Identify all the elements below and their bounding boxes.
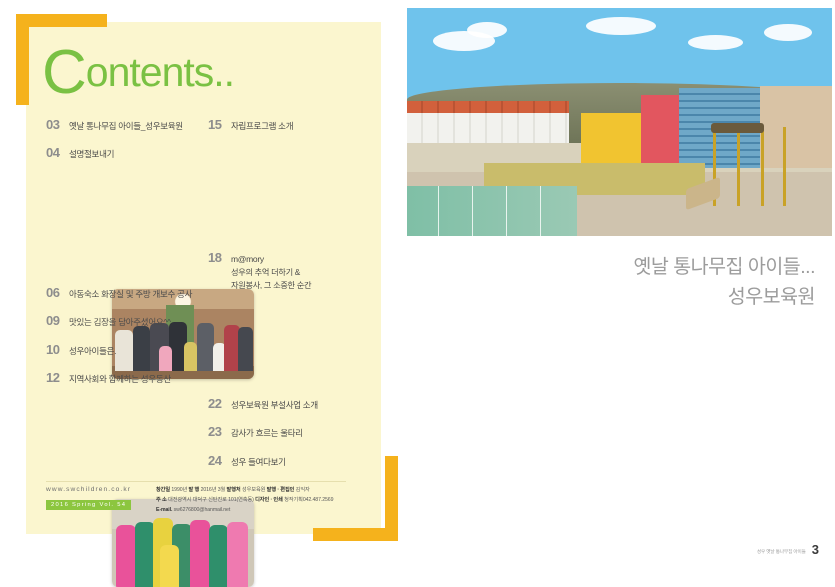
photo-detail <box>705 127 790 207</box>
email-label: E-mail. <box>156 507 172 513</box>
toc-label: 지역사회와 함께하는 성우동산 <box>69 373 171 385</box>
imprint-line-2: 주 소 대전광역시 대덕구 신탄진로 101(연축동) 디자인 · 인쇄 청작기… <box>156 496 396 506</box>
imprint-label: 디자인 · 인쇄 <box>255 497 283 503</box>
toc-number: 24 <box>208 453 227 468</box>
toc-column-right: 15 자립프로그램 소개 18 m@mory 성우의 추억 더하기 & 자원봉사… <box>208 117 373 145</box>
imprint-line-1: 창간일 1990년 발 행 2016년 3월 발행처 성우보육원 발행 · 편집… <box>156 486 396 496</box>
toc-label: 자립프로그램 소개 <box>231 120 293 132</box>
imprint-value: 김익자 <box>296 487 310 493</box>
imprint-value: 1990년 <box>171 487 187 493</box>
toc-entry-24[interactable]: 24 성우 들여다보기 <box>208 453 378 468</box>
toc-label: m@mory <box>231 253 264 265</box>
photo-detail <box>407 186 577 236</box>
imprint-details: 창간일 1990년 발 행 2016년 3월 발행처 성우보육원 발행 · 편집… <box>156 486 396 516</box>
toc-number: 22 <box>208 396 227 411</box>
footer-divider <box>46 481 346 482</box>
toc-entry-04[interactable]: 04 설명절보내기 <box>46 145 206 160</box>
volume-badge: 2016 Spring Vol. 54 <box>46 500 131 510</box>
page-number: 3 <box>812 542 819 557</box>
toc-entry-18-block[interactable]: 18 m@mory 성우의 추억 더하기 & 자원봉사, 그 소중한 순간 <box>208 250 378 292</box>
page-title: Contents.. <box>42 42 234 104</box>
imprint-label: 발행처 <box>227 487 241 493</box>
email-value[interactable]: sw6276800@hanmail.net <box>174 507 231 513</box>
toc-column-right-lower: 22 성우보육원 부설사업 소개 23 감사가 흐르는 울타리 24 성우 들여… <box>208 396 378 481</box>
toc-number: 23 <box>208 424 227 439</box>
toc-column-left: 03 옛날 통나무집 아이들_성우보육원 04 설명절보내기 <box>46 117 206 174</box>
toc-number: 04 <box>46 145 65 160</box>
imprint-label: 발 행 <box>189 487 200 493</box>
toc-column-left-lower: 06 아동숙소 화장실 및 주방 개보수 공사 09 맛있는 김장을 담아주셨어… <box>46 285 236 398</box>
toc-entry-03[interactable]: 03 옛날 통나무집 아이들_성우보육원 <box>46 117 206 132</box>
toc-number: 12 <box>46 370 65 385</box>
imprint-label: 발행 · 편집인 <box>267 487 295 493</box>
imprint-label: 창간일 <box>156 487 170 493</box>
toc-label: 감사가 흐르는 울타리 <box>231 427 303 439</box>
toc-entry-22[interactable]: 22 성우보육원 부설사업 소개 <box>208 396 378 411</box>
toc-number: 06 <box>46 285 65 300</box>
toc-entry-12[interactable]: 12 지역사회와 함께하는 성우동산 <box>46 370 236 385</box>
toc-number: 09 <box>46 313 65 328</box>
imprint-value: 성우보육원 <box>242 487 265 493</box>
imprint-value: 대전광역시 대덕구 신탄진로 101(연축동) <box>168 497 254 503</box>
right-page: 옛날 통나무집 아이들... 성우보육원 “ 사랑스러운 우리 아이들과 행복 … <box>400 0 835 571</box>
toc-label: 설명절보내기 <box>69 148 114 160</box>
toc-number: 18 <box>208 250 227 265</box>
imprint-value: 2016년 3월 <box>201 487 226 493</box>
article-title-line2: 성우보육원 <box>400 282 815 312</box>
page-footer-label: 성우 옛날 통나무집 아이들 <box>757 549 806 557</box>
photo-campus-aerial <box>407 8 832 236</box>
photo-detail <box>407 101 569 112</box>
article-title: 옛날 통나무집 아이들... 성우보육원 <box>400 252 815 312</box>
toc-number: 10 <box>46 342 65 357</box>
toc-sublabel: 성우의 추억 더하기 & 자원봉사, 그 소중한 순간 <box>231 267 378 292</box>
page-footer: 성우 옛날 통나무집 아이들 3 <box>757 542 819 557</box>
toc-number: 03 <box>46 117 65 132</box>
imprint-value: 청작기획042.487.2569 <box>284 497 333 503</box>
imprint-label: 주 소 <box>156 497 167 503</box>
toc-label: 성우보육원 부설사업 소개 <box>231 399 318 411</box>
publication-footer: www.swchildren.co.kr 2016 Spring Vol. 54… <box>46 486 356 511</box>
imprint-line-3: E-mail. sw6276800@hanmail.net <box>156 506 396 516</box>
toc-label: 성우아이들은. <box>69 345 116 357</box>
toc-label: 맛있는 김장을 담아주셨어요^^ <box>69 316 171 328</box>
toc-label: 옛날 통나무집 아이들_성우보육원 <box>69 120 183 132</box>
contents-capital-c: C <box>42 38 86 107</box>
magazine-spread: Contents.. 03 옛날 통나무집 아이들_성우보육원 04 설명절보내… <box>0 0 835 571</box>
photo-detail <box>641 95 684 168</box>
toc-label: 성우 들여다보기 <box>231 456 286 468</box>
toc-label: 아동숙소 화장실 및 주방 개보수 공사 <box>69 288 192 300</box>
photo-detail <box>581 113 641 163</box>
toc-number: 15 <box>208 117 227 132</box>
toc-entry-15[interactable]: 15 자립프로그램 소개 <box>208 117 373 132</box>
contents-title-rest: ontents.. <box>86 49 234 95</box>
toc-entry-23[interactable]: 23 감사가 흐르는 울타리 <box>208 424 378 439</box>
toc-entry-10[interactable]: 10 성우아이들은. <box>46 342 236 357</box>
toc-entry-09[interactable]: 09 맛있는 김장을 담아주셨어요^^ <box>46 313 236 328</box>
article-title-line1: 옛날 통나무집 아이들... <box>400 252 815 282</box>
left-page: Contents.. 03 옛날 통나무집 아이들_성우보육원 04 설명절보내… <box>0 0 400 571</box>
